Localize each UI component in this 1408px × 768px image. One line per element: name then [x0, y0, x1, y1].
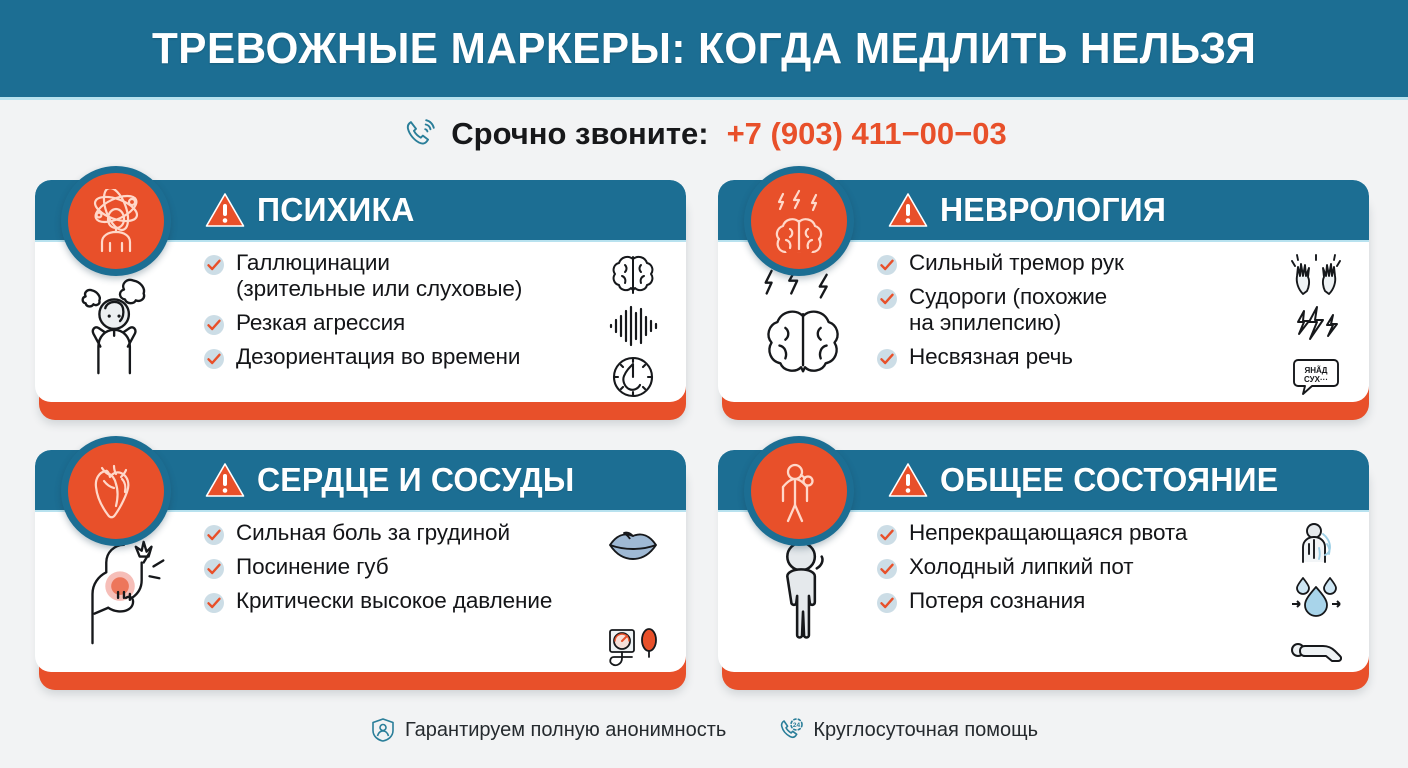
list-item: Несвязная речь — [876, 344, 1276, 370]
card-title: ПСИХИКА — [257, 191, 415, 229]
check-circle-icon — [203, 314, 225, 336]
brain-shock-icon — [744, 166, 854, 276]
sweating-person-icon — [1290, 522, 1342, 568]
blue-lips-icon — [607, 522, 659, 568]
footer-item-anonymity: Гарантируем полную анонимность — [370, 717, 726, 743]
phone-label: Срочно звоните: — [451, 116, 708, 152]
garbled-speech-bubble-icon: ЯНÃД СУX··· — [1290, 354, 1342, 400]
card-title: ОБЩЕЕ СОСТОЯНИЕ — [940, 461, 1278, 499]
cards-grid: ПСИХИКА — [35, 180, 1373, 690]
list-item-label: Сильный тремор рук — [909, 250, 1124, 276]
footer-item-label: Круглосуточная помощь — [813, 719, 1038, 742]
card-right-icons — [1279, 522, 1353, 670]
water-drops-icon — [1290, 573, 1342, 619]
card-right-icons — [596, 522, 670, 670]
warning-triangle-icon — [888, 462, 928, 498]
list-item-label: Потеря сознания — [909, 588, 1085, 614]
standing-person-icon — [740, 528, 870, 656]
page-title: ТРЕВОЖНЫЕ МАРКЕРЫ: КОГДА МЕДЛИТЬ НЕЛЬЗЯ — [152, 24, 1256, 74]
list-item: Судороги (похожие на эпилепсию) — [876, 284, 1276, 336]
heart-icon — [61, 436, 171, 546]
check-circle-icon — [203, 592, 225, 614]
list-item: Непрекращающаяся рвота — [876, 520, 1276, 546]
list-item-label: Критически высокое давление — [236, 588, 552, 614]
list-item-label: Дезориентация во времени — [236, 344, 520, 370]
list-item: Критически высокое давление — [203, 588, 583, 614]
check-circle-icon — [876, 288, 898, 310]
card-psyche: ПСИХИКА — [35, 180, 690, 420]
list-item-label: Несвязная речь — [909, 344, 1073, 370]
shaking-hands-icon — [1290, 252, 1342, 298]
list-item: Дезориентация во времени — [203, 344, 583, 370]
check-circle-icon — [876, 254, 898, 276]
check-circle-icon — [876, 558, 898, 580]
brain-lightning-icon — [740, 258, 870, 386]
list-item-label: Посинение губ — [236, 554, 389, 580]
symptom-list: Непрекращающаяся рвота Холодный липкий п… — [876, 520, 1276, 622]
check-circle-icon — [876, 592, 898, 614]
sound-wave-icon — [607, 303, 659, 349]
list-item: Резкая агрессия — [203, 310, 583, 336]
list-item-label: Холодный липкий пот — [909, 554, 1133, 580]
check-circle-icon — [203, 348, 225, 370]
warning-triangle-icon — [205, 462, 245, 498]
list-item-label: Непрекращающаяся рвота — [909, 520, 1187, 546]
confused-head-icon — [61, 166, 171, 276]
svg-text:ЯНÃД: ЯНÃД — [1304, 366, 1327, 375]
check-circle-icon — [876, 348, 898, 370]
list-item: Галлюцинации (зрительные или слуховые) — [203, 250, 583, 302]
card-right-icons — [596, 252, 670, 400]
check-circle-icon — [876, 524, 898, 546]
footer-item-label: Гарантируем полную анонимность — [405, 719, 726, 742]
check-circle-icon — [203, 524, 225, 546]
melting-clock-icon — [607, 354, 659, 400]
phone-call-icon — [401, 115, 439, 153]
lying-person-icon — [1290, 624, 1342, 670]
chest-pain-person-icon — [57, 528, 187, 656]
phone-cta-row: Срочно звоните: +7 (903) 411−00−03 — [0, 103, 1408, 165]
symptom-list: Сильный тремор рук Судороги (похожие на … — [876, 250, 1276, 378]
shield-person-icon — [370, 717, 396, 743]
card-right-icons: ЯНÃД СУX··· — [1279, 252, 1353, 400]
card-heart: СЕРДЦЕ И СОСУДЫ — [35, 450, 690, 690]
list-item-label: Резкая агрессия — [236, 310, 405, 336]
lightning-bolts-icon — [1290, 303, 1342, 349]
person-nausea-icon — [744, 436, 854, 546]
list-item: Сильный тремор рук — [876, 250, 1276, 276]
check-circle-icon — [203, 254, 225, 276]
svg-text:СУX···: СУX··· — [1304, 375, 1328, 384]
page-header-banner: ТРЕВОЖНЫЕ МАРКЕРЫ: КОГДА МЕДЛИТЬ НЕЛЬЗЯ — [0, 0, 1408, 100]
warning-triangle-icon — [888, 192, 928, 228]
list-item-label: Судороги (похожие на эпилепсию) — [909, 284, 1107, 336]
list-item-label: Галлюцинации (зрительные или слуховые) — [236, 250, 522, 302]
list-item: Потеря сознания — [876, 588, 1276, 614]
list-item-label: Сильная боль за грудиной — [236, 520, 510, 546]
brain-icon — [607, 252, 659, 298]
check-circle-icon — [203, 558, 225, 580]
svg-text:24: 24 — [793, 722, 801, 729]
phone-24h-icon: 24 — [778, 717, 804, 743]
list-item: Холодный липкий пот — [876, 554, 1276, 580]
card-title: СЕРДЦЕ И СОСУДЫ — [257, 461, 574, 499]
list-item: Сильная боль за грудиной — [203, 520, 583, 546]
symptom-list: Сильная боль за грудиной Посинение губ К… — [203, 520, 583, 622]
footer-item-24h: 24 Круглосуточная помощь — [778, 717, 1038, 743]
list-item: Посинение губ — [203, 554, 583, 580]
symptom-list: Галлюцинации (зрительные или слуховые) Р… — [203, 250, 583, 378]
footer-badges: Гарантируем полную анонимность 24 Кругло… — [0, 706, 1408, 754]
phone-number[interactable]: +7 (903) 411−00−03 — [727, 116, 1007, 152]
blood-pressure-monitor-icon — [607, 624, 659, 670]
card-title: НЕВРОЛОГИЯ — [940, 191, 1166, 229]
stressed-person-icon — [57, 258, 187, 386]
card-neurology: НЕВРОЛОГИЯ — [718, 180, 1373, 420]
warning-triangle-icon — [205, 192, 245, 228]
card-general: ОБЩЕЕ СОСТОЯНИЕ Непрекращающаяся р — [718, 450, 1373, 690]
